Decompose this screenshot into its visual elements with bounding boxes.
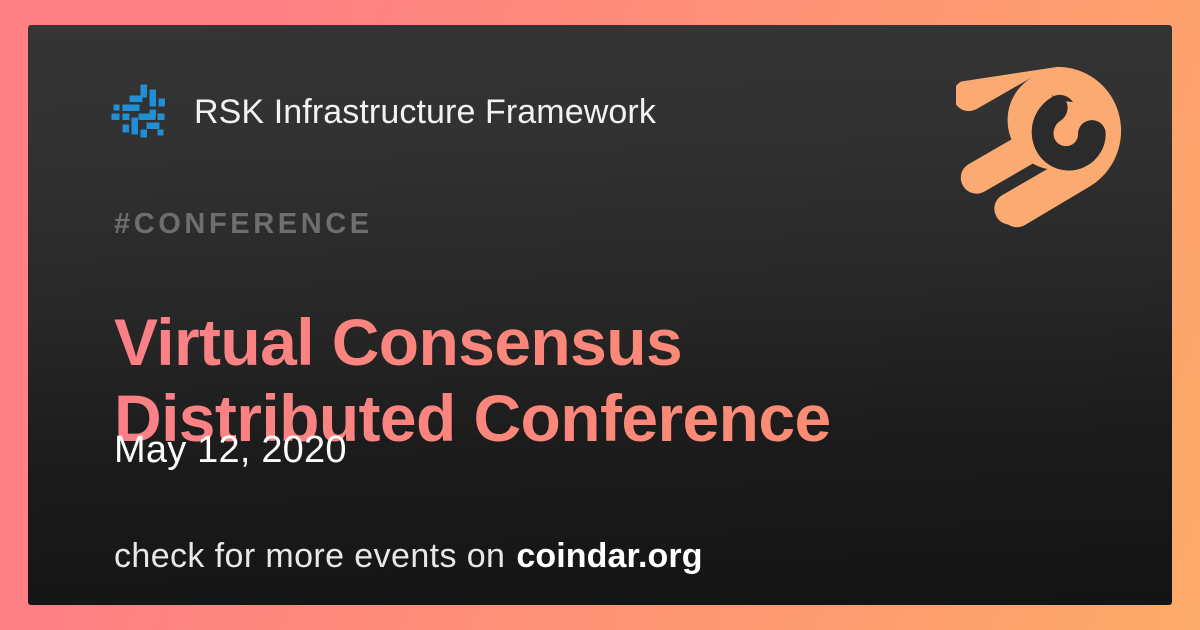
event-title-line-1: Virtual Consensus xyxy=(114,304,1014,380)
event-poster: RSK Infrastructure Framework xyxy=(0,0,1200,630)
project-header: RSK Infrastructure Framework xyxy=(110,80,656,144)
rsk-pixel-logo-icon xyxy=(110,83,168,141)
project-name: RSK Infrastructure Framework xyxy=(194,93,656,132)
footer: check for more events on coindar.org xyxy=(114,537,703,576)
event-date: May 12, 2020 xyxy=(114,429,347,472)
footer-site-link[interactable]: coindar.org xyxy=(516,537,702,576)
event-category-tag: #CONFERENCE xyxy=(114,208,373,241)
poster-card: RSK Infrastructure Framework xyxy=(28,25,1172,605)
footer-text: check for more events on xyxy=(114,537,505,576)
coindar-comet-icon xyxy=(956,60,1128,232)
